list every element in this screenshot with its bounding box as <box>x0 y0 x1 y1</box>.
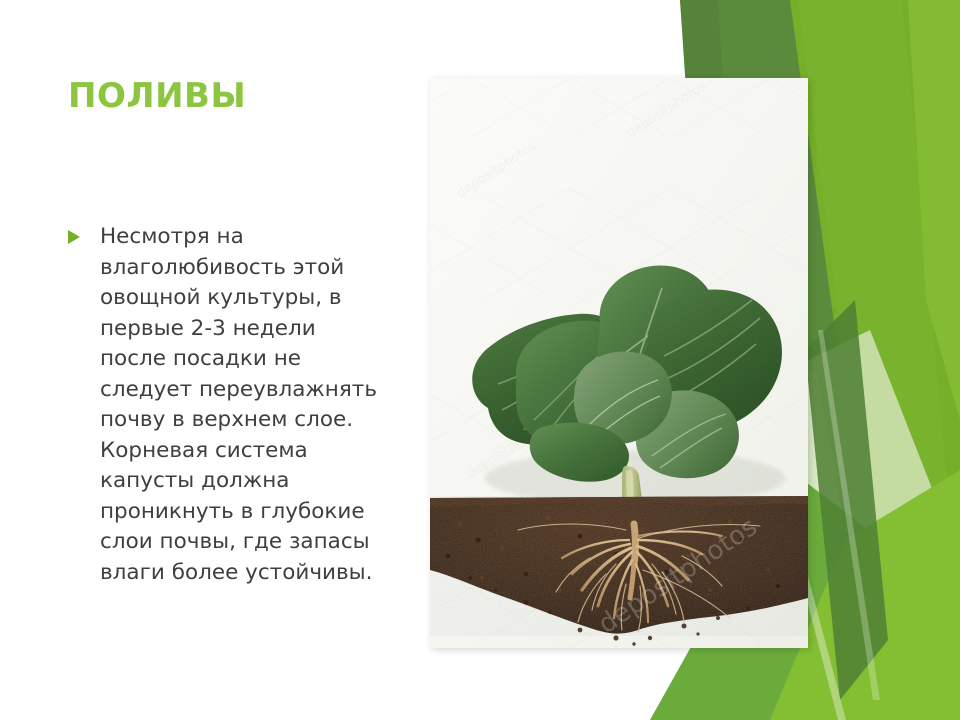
deco-shape-dark-sliver <box>805 300 888 700</box>
root-taproot <box>634 524 636 564</box>
triangle-bullet-icon <box>66 222 88 245</box>
bullet-item-text: Несмотря на влаголюбивость этой овощной … <box>88 222 386 588</box>
deco-shape-light-strip <box>908 0 960 420</box>
cabbage-seedling-in-soil-photo: depositphotos depositphotos depositphoto… <box>430 78 808 648</box>
deco-shape-mid-column <box>798 0 960 720</box>
deco-shape-thin-line-b <box>818 330 880 700</box>
deco-shape-bright-band <box>790 0 960 720</box>
slide-title: ПОЛИВЫ <box>68 76 246 116</box>
bullet-list: Несмотря на влаголюбивость этой овощной … <box>66 222 386 588</box>
presentation-slide: ПОЛИВЫ Несмотря на влаголюбивость этой о… <box>0 0 960 720</box>
